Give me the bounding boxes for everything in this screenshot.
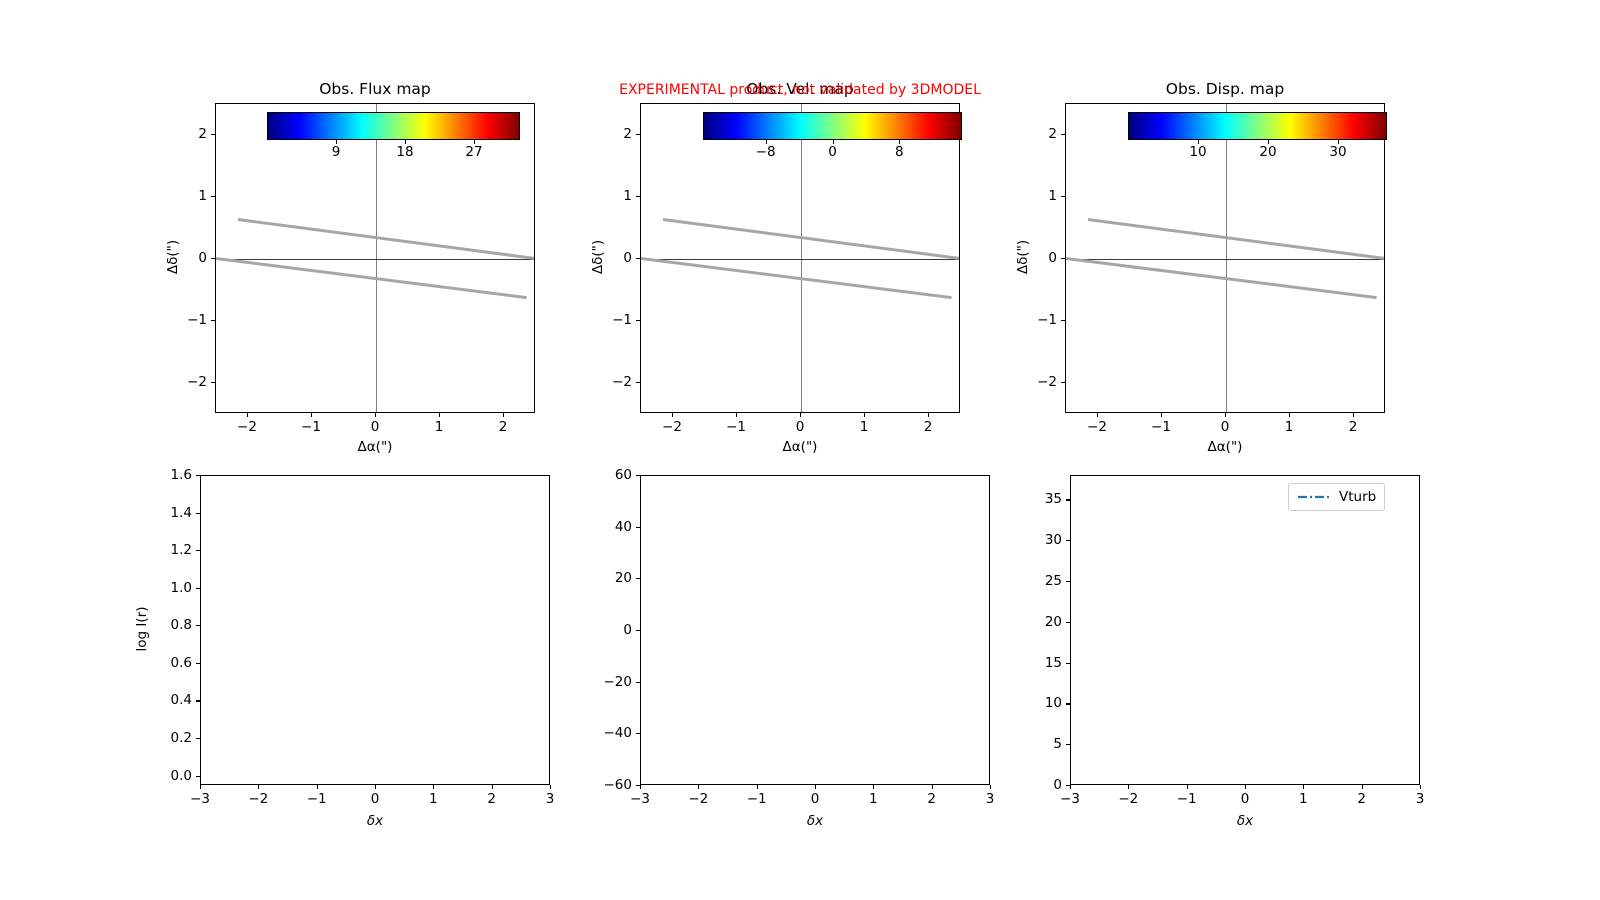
profile-y-tick-label: −20 — [592, 674, 632, 690]
map-y-tick-label: −1 — [598, 312, 632, 328]
map-x-tick-label: −1 — [1151, 419, 1171, 435]
profile-x-tick — [1070, 785, 1071, 789]
profile-x-tick — [815, 785, 816, 789]
map-y-tick-label: −2 — [1023, 374, 1057, 390]
map-y-tick — [211, 134, 215, 135]
profile-x-tick-label: −3 — [190, 791, 210, 807]
profile-y-tick-label: 15 — [1022, 655, 1062, 671]
map-x-tick — [311, 413, 312, 417]
profile-x-tick-label: −1 — [1177, 791, 1197, 807]
map-y-tick — [1061, 258, 1065, 259]
map-crosshair-vertical — [376, 104, 377, 412]
map-x-tick — [800, 413, 801, 417]
profile-y-tick — [196, 625, 200, 626]
profile-y-tick — [196, 700, 200, 701]
map-x-tick — [503, 413, 504, 417]
map-x-tick-label: 1 — [860, 419, 869, 435]
profile-y-tick — [636, 475, 640, 476]
profile-x-tick-label: 2 — [487, 791, 496, 807]
profile-x-tick — [550, 785, 551, 789]
profile-y-tick-label: 1.6 — [152, 467, 192, 483]
map-crosshair-horizontal — [1066, 259, 1384, 260]
profile-y-tick — [636, 733, 640, 734]
obs-flux-colorbar[interactable] — [267, 112, 520, 140]
profile-x-tick — [375, 785, 376, 789]
map-x-tick-label: 2 — [1349, 419, 1358, 435]
map-y-tick-label: −2 — [173, 374, 207, 390]
map-x-tick-label: 2 — [499, 419, 508, 435]
profile-y-tick-label: 30 — [1022, 532, 1062, 548]
map-y-tick — [1061, 382, 1065, 383]
map-crosshair-horizontal — [641, 259, 959, 260]
map-y-tick — [636, 196, 640, 197]
profile-x-tick — [258, 785, 259, 789]
profile-y-tick — [196, 550, 200, 551]
colorbar-tick-label: −8 — [756, 144, 776, 160]
map-y-tick — [1061, 134, 1065, 135]
flux-profile-xlabel: δx — [325, 813, 425, 829]
map-x-tick — [928, 413, 929, 417]
map-y-tick-label: 0 — [598, 250, 632, 266]
profile-x-tick-label: −3 — [1060, 791, 1080, 807]
map-y-tick — [211, 196, 215, 197]
map-y-tick — [211, 382, 215, 383]
map-x-tick — [1353, 413, 1354, 417]
map-x-tick-label: 1 — [435, 419, 444, 435]
map-y-tick — [1061, 320, 1065, 321]
map-y-tick-label: −1 — [1023, 312, 1057, 328]
profile-x-tick — [317, 785, 318, 789]
profile-x-tick-label: −1 — [307, 791, 327, 807]
obs-vel-colorbar[interactable] — [703, 112, 962, 140]
profile-x-tick-label: −2 — [688, 791, 708, 807]
profile-y-tick-label: 0 — [1022, 777, 1062, 793]
profile-y-tick-label: 0.8 — [152, 617, 192, 633]
profile-x-tick — [1187, 785, 1188, 789]
map-x-tick-label: −1 — [726, 419, 746, 435]
profile-x-tick — [1245, 785, 1246, 789]
profile-x-tick — [932, 785, 933, 789]
profile-x-tick-label: −3 — [630, 791, 650, 807]
dispersion-profile-xlabel: δx — [1195, 813, 1295, 829]
profile-y-tick — [1066, 703, 1070, 704]
map-y-tick-label: 0 — [173, 250, 207, 266]
profile-x-tick-label: −1 — [747, 791, 767, 807]
profile-x-tick-label: 0 — [811, 791, 820, 807]
profile-y-tick-label: 5 — [1022, 736, 1062, 752]
profile-y-tick-label: 1.4 — [152, 505, 192, 521]
map-x-tick-label: 0 — [1221, 419, 1230, 435]
profile-y-tick — [1066, 581, 1070, 582]
profile-y-tick — [1066, 744, 1070, 745]
profile-x-tick — [1420, 785, 1421, 789]
profile-x-tick — [1362, 785, 1363, 789]
profile-y-tick — [636, 682, 640, 683]
map-y-tick — [636, 258, 640, 259]
profile-y-tick — [196, 663, 200, 664]
colorbar-tick-label: 20 — [1259, 144, 1276, 160]
colorbar-tick-label: 10 — [1189, 144, 1206, 160]
profile-x-tick-label: 2 — [927, 791, 936, 807]
profile-x-tick — [492, 785, 493, 789]
profile-x-tick-label: −2 — [248, 791, 268, 807]
profile-y-tick-label: 20 — [1022, 614, 1062, 630]
profile-y-tick-label: 0.2 — [152, 730, 192, 746]
map-crosshair-vertical — [1226, 104, 1227, 412]
profile-x-tick-label: 1 — [1299, 791, 1308, 807]
map-x-tick-label: 2 — [924, 419, 933, 435]
profile-y-tick-label: 1.0 — [152, 580, 192, 596]
vturb-legend-label: Vturb — [1339, 489, 1376, 505]
colorbar-tick-label: 30 — [1329, 144, 1346, 160]
map-x-tick-label: 0 — [796, 419, 805, 435]
profile-y-tick — [636, 630, 640, 631]
map-x-tick — [439, 413, 440, 417]
profile-x-tick — [757, 785, 758, 789]
profile-y-tick-label: 10 — [1022, 695, 1062, 711]
profile-y-tick — [1066, 663, 1070, 664]
colorbar-tick-label: 0 — [828, 144, 837, 160]
map-y-tick-label: 2 — [598, 126, 632, 142]
map-y-tick — [636, 320, 640, 321]
colorbar-tick-label: 27 — [465, 144, 482, 160]
map-y-tick-label: 1 — [173, 188, 207, 204]
map-y-tick — [211, 258, 215, 259]
profile-x-tick — [433, 785, 434, 789]
map-x-tick-label: −1 — [301, 419, 321, 435]
profile-y-tick-label: 0.6 — [152, 655, 192, 671]
map-y-tick-label: 1 — [1023, 188, 1057, 204]
profile-x-tick — [1128, 785, 1129, 789]
map-crosshair-horizontal — [216, 259, 534, 260]
colorbar-tick-label: 8 — [895, 144, 904, 160]
map-x-tick — [247, 413, 248, 417]
map-x-tick — [375, 413, 376, 417]
map-y-tick-label: 1 — [598, 188, 632, 204]
profile-y-tick — [1066, 540, 1070, 541]
experimental-warning: EXPERIMENTAL product, not validated by 3… — [540, 82, 1060, 98]
map-y-tick-label: 2 — [1023, 126, 1057, 142]
profile-y-tick — [1066, 499, 1070, 500]
profile-y-tick — [196, 588, 200, 589]
map-y-tick-label: −2 — [598, 374, 632, 390]
map-x-tick-label: 1 — [1285, 419, 1294, 435]
map-x-tick — [1225, 413, 1226, 417]
profile-x-tick-label: 0 — [371, 791, 380, 807]
map-x-tick — [1161, 413, 1162, 417]
profile-y-tick — [1066, 622, 1070, 623]
profile-x-tick-label: −2 — [1118, 791, 1138, 807]
map-x-tick — [672, 413, 673, 417]
map-x-tick — [736, 413, 737, 417]
profile-x-tick-label: 3 — [1416, 791, 1425, 807]
profile-x-tick — [698, 785, 699, 789]
profile-x-tick-label: 1 — [869, 791, 878, 807]
map-x-tick-label: 0 — [371, 419, 380, 435]
profile-x-tick — [200, 785, 201, 789]
map-x-tick-label: −2 — [237, 419, 257, 435]
colorbar-tick-label: 18 — [396, 144, 413, 160]
map-y-tick — [1061, 196, 1065, 197]
profile-x-tick — [990, 785, 991, 789]
profile-y-tick — [196, 738, 200, 739]
profile-y-tick-label: −40 — [592, 725, 632, 741]
map-y-tick-label: 0 — [1023, 250, 1057, 266]
profile-y-tick — [196, 776, 200, 777]
map-x-tick — [1289, 413, 1290, 417]
map-y-tick-label: −1 — [173, 312, 207, 328]
map-y-tick-label: 2 — [173, 126, 207, 142]
map-x-tick-label: −2 — [662, 419, 682, 435]
profile-y-tick — [196, 513, 200, 514]
profile-y-tick-label: 0.4 — [152, 692, 192, 708]
colorbar-tick-label: 9 — [332, 144, 341, 160]
map-crosshair-vertical — [801, 104, 802, 412]
profile-y-tick — [636, 578, 640, 579]
profile-y-tick — [636, 527, 640, 528]
map-y-tick — [636, 382, 640, 383]
vturb-legend[interactable]: Vturb — [1288, 483, 1385, 511]
map-y-tick — [211, 320, 215, 321]
profile-y-tick-label: 1.2 — [152, 542, 192, 558]
map-x-tick-label: −2 — [1087, 419, 1107, 435]
profile-y-tick — [1066, 785, 1070, 786]
profile-y-tick-label: 20 — [592, 570, 632, 586]
profile-x-tick-label: 3 — [986, 791, 995, 807]
profile-x-tick-label: 3 — [546, 791, 555, 807]
profile-x-tick — [640, 785, 641, 789]
obs-disp-colorbar[interactable] — [1128, 112, 1387, 140]
vturb-legend-swatch — [1297, 492, 1331, 502]
profile-y-tick-label: 0.0 — [152, 768, 192, 784]
profile-x-tick — [873, 785, 874, 789]
profile-y-tick-label: 60 — [592, 467, 632, 483]
profile-y-tick — [196, 475, 200, 476]
map-x-tick — [864, 413, 865, 417]
map-x-tick — [1097, 413, 1098, 417]
profile-y-tick-label: 25 — [1022, 573, 1062, 589]
profile-y-tick-label: 35 — [1022, 491, 1062, 507]
profile-y-tick — [636, 785, 640, 786]
profile-x-tick-label: 2 — [1357, 791, 1366, 807]
profile-x-tick — [1303, 785, 1304, 789]
profile-y-tick-label: 40 — [592, 519, 632, 535]
profile-y-tick-label: 0 — [592, 622, 632, 638]
profile-x-tick-label: 1 — [429, 791, 438, 807]
map-y-tick — [636, 134, 640, 135]
profile-x-tick-label: 0 — [1241, 791, 1250, 807]
